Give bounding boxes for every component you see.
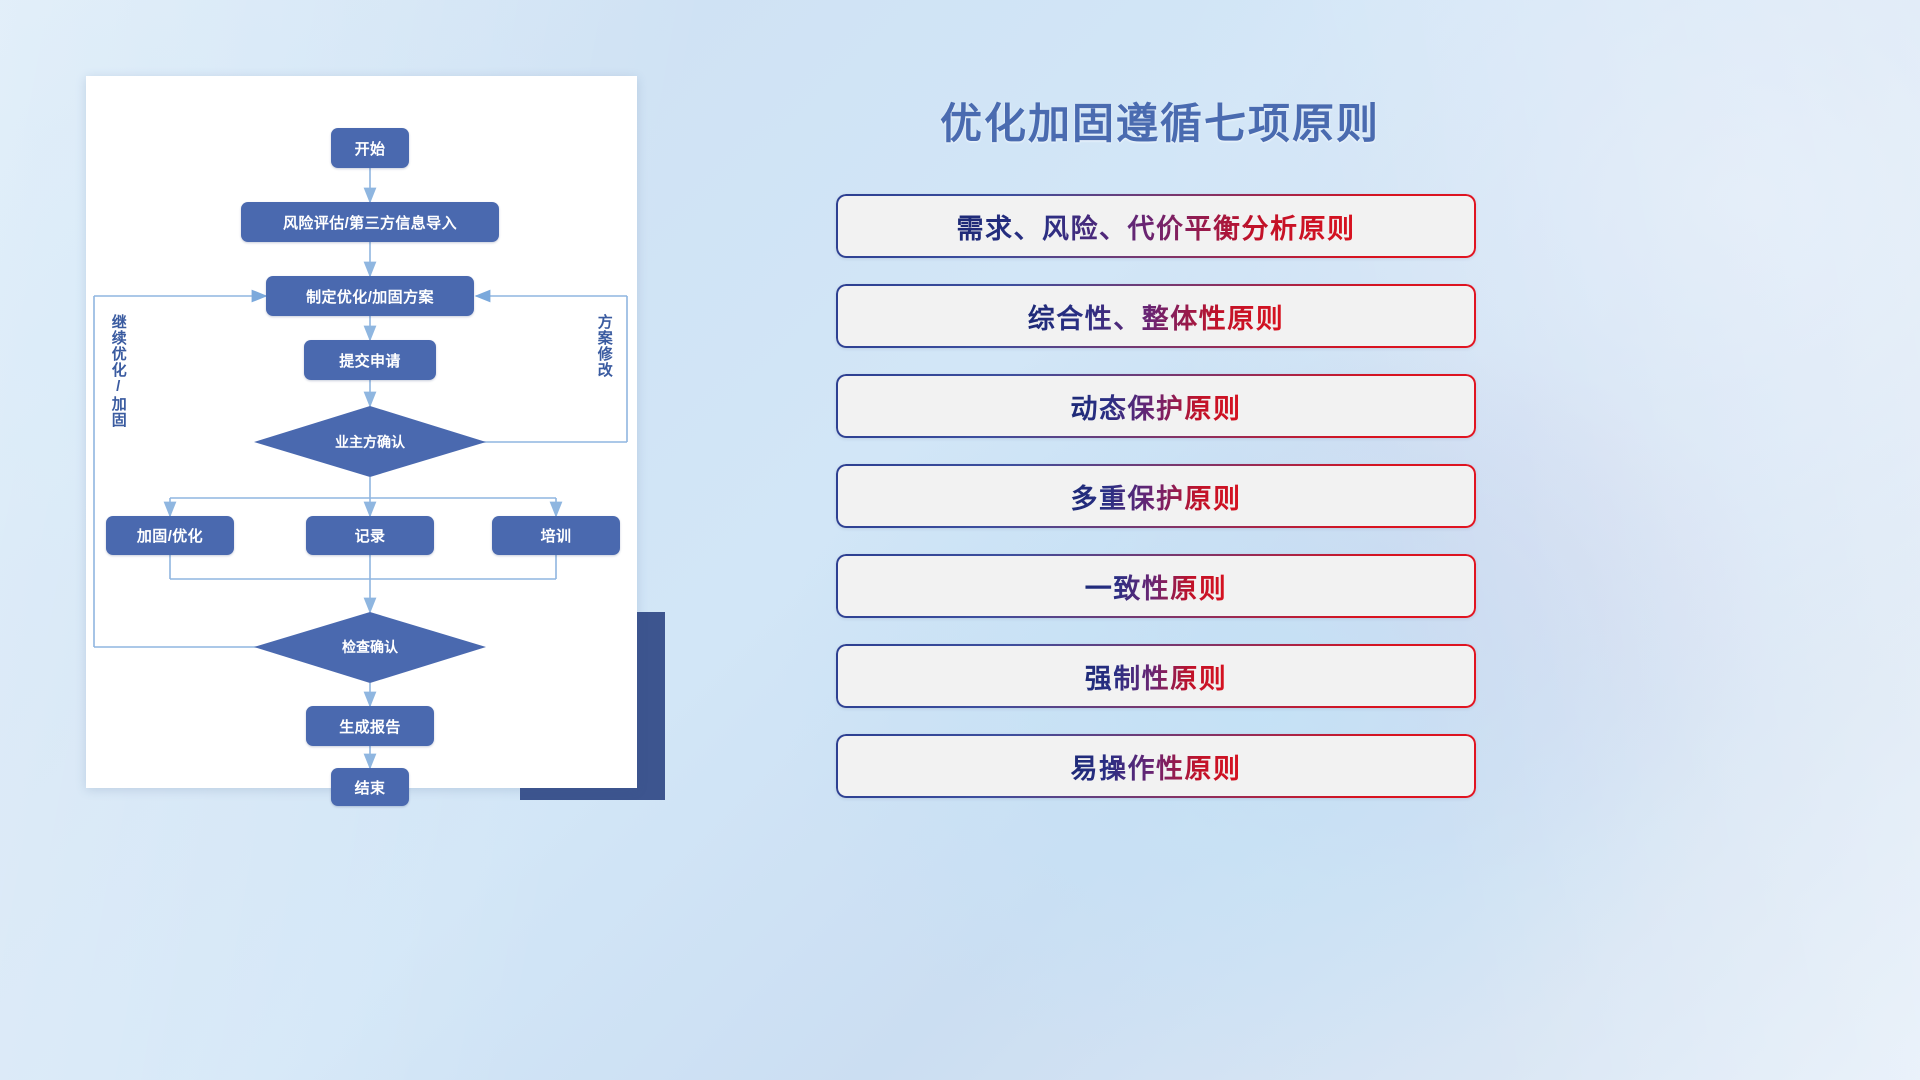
node-start-label: 开始 bbox=[355, 138, 386, 159]
principle-card-4[interactable]: 多重保护原则 bbox=[836, 464, 1476, 528]
node-record-label: 记录 bbox=[355, 525, 386, 546]
edge-label-right-loop: 方案修改 bbox=[596, 314, 612, 414]
node-generate-report[interactable]: 生成报告 bbox=[306, 706, 434, 746]
node-training-label: 培训 bbox=[541, 525, 572, 546]
node-check-confirm-label-wrap: 检查确认 bbox=[270, 634, 470, 660]
node-risk-assessment-label: 风险评估/第三方信息导入 bbox=[283, 212, 457, 233]
principle-card-6[interactable]: 强制性原则 bbox=[836, 644, 1476, 708]
node-submit-application-label: 提交申请 bbox=[339, 350, 401, 371]
principles-list: 需求、风险、代价平衡分析原则 综合性、整体性原则 动态保护原则 多重保护原则 一… bbox=[836, 194, 1476, 824]
principle-card-5[interactable]: 一致性原则 bbox=[836, 554, 1476, 618]
principle-card-3-label: 动态保护原则 bbox=[1071, 387, 1242, 426]
principle-card-1-label: 需求、风险、代价平衡分析原则 bbox=[957, 207, 1356, 246]
node-end[interactable]: 结束 bbox=[331, 768, 409, 806]
node-reinforce-optimize-label: 加固/优化 bbox=[137, 525, 203, 546]
principle-card-7[interactable]: 易操作性原则 bbox=[836, 734, 1476, 798]
principle-card-2-label: 综合性、整体性原则 bbox=[1028, 297, 1285, 336]
node-risk-assessment[interactable]: 风险评估/第三方信息导入 bbox=[241, 202, 499, 242]
node-start[interactable]: 开始 bbox=[331, 128, 409, 168]
principles-panel-title: 优化加固遵循七项原则 bbox=[830, 90, 1490, 151]
principle-card-2[interactable]: 综合性、整体性原则 bbox=[836, 284, 1476, 348]
node-generate-report-label: 生成报告 bbox=[339, 716, 401, 737]
node-training[interactable]: 培训 bbox=[492, 516, 620, 555]
principle-card-5-label: 一致性原则 bbox=[1085, 567, 1228, 606]
principle-card-6-label: 强制性原则 bbox=[1085, 657, 1228, 696]
node-reinforce-optimize[interactable]: 加固/优化 bbox=[106, 516, 234, 555]
node-check-confirm-label: 检查确认 bbox=[342, 637, 398, 657]
node-submit-application[interactable]: 提交申请 bbox=[304, 340, 436, 380]
principle-card-3[interactable]: 动态保护原则 bbox=[836, 374, 1476, 438]
flowchart-card: 开始 风险评估/第三方信息导入 制定优化/加固方案 提交申请 业主方确认 加固/… bbox=[86, 76, 637, 788]
node-make-plan[interactable]: 制定优化/加固方案 bbox=[266, 276, 474, 316]
principle-card-7-label: 易操作性原则 bbox=[1071, 747, 1242, 786]
principle-card-1[interactable]: 需求、风险、代价平衡分析原则 bbox=[836, 194, 1476, 258]
node-end-label: 结束 bbox=[355, 777, 386, 798]
node-owner-confirm-label-wrap: 业主方确认 bbox=[270, 429, 470, 455]
node-owner-confirm-label: 业主方确认 bbox=[335, 432, 405, 452]
node-make-plan-label: 制定优化/加固方案 bbox=[306, 286, 434, 307]
edge-label-left-loop: 继续优化/加固 bbox=[110, 314, 126, 454]
node-record[interactable]: 记录 bbox=[306, 516, 434, 555]
principle-card-4-label: 多重保护原则 bbox=[1071, 477, 1242, 516]
